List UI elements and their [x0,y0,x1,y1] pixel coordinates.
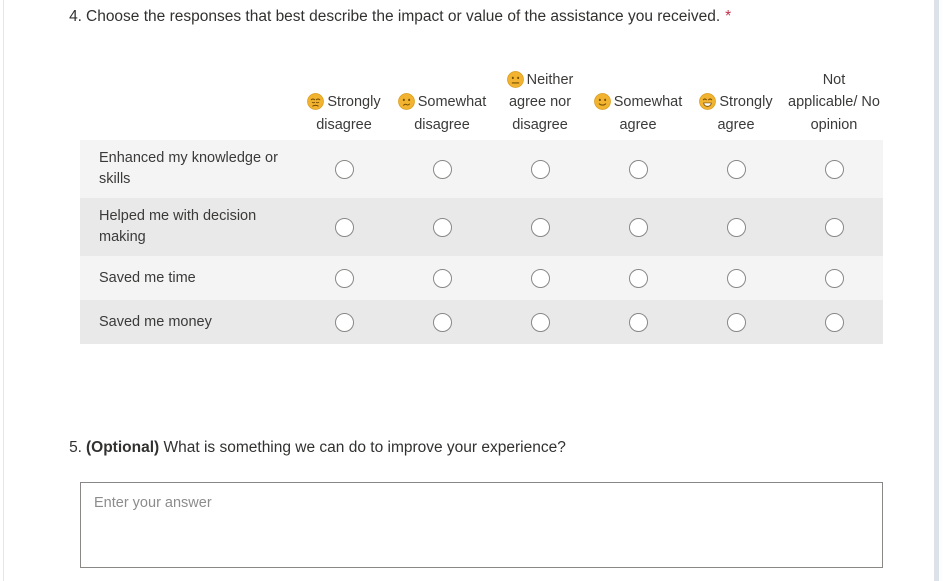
question-4-heading: 4. Choose the responses that best descri… [62,6,892,28]
likert-cell-1-4[interactable] [687,218,785,237]
neutral-face-icon [507,71,524,88]
likert-column-header-3: Somewhat agree [589,58,687,140]
page-scrollbar-thumb[interactable] [934,0,939,581]
likert-cell-0-5[interactable] [785,160,883,179]
likert-cell-3-0[interactable] [295,313,393,332]
likert-row-label-1: Helped me with decision making [80,206,295,248]
likert-column-label-3: Somewhat agree [614,94,683,133]
likert-cell-1-0[interactable] [295,218,393,237]
radio-button[interactable] [825,313,844,332]
likert-column-header-inner-5: Not applicable/ No opinion [787,69,881,137]
likert-matrix: Strongly disagree Somewhat disagree Neit… [80,58,883,344]
likert-cell-0-2[interactable] [491,160,589,179]
likert-cell-1-5[interactable] [785,218,883,237]
likert-cell-2-2[interactable] [491,269,589,288]
radio-button[interactable] [825,160,844,179]
radio-button[interactable] [335,313,354,332]
radio-button[interactable] [629,269,648,288]
answer-textarea[interactable]: Enter your answer [80,482,883,568]
radio-button[interactable] [531,160,550,179]
radio-button[interactable] [629,160,648,179]
radio-button[interactable] [335,218,354,237]
question-4-number: 4. [62,6,86,28]
table-row: Saved me time [80,256,883,300]
radio-button[interactable] [433,160,452,179]
radio-button[interactable] [727,218,746,237]
likert-cell-3-2[interactable] [491,313,589,332]
question-5-text-wrap: (Optional) What is something we can do t… [86,437,892,459]
likert-column-header-1: Somewhat disagree [393,58,491,140]
likert-cell-2-0[interactable] [295,269,393,288]
radio-button[interactable] [825,269,844,288]
likert-column-header-4: Strongly agree [687,58,785,140]
likert-column-header-inner-2: Neither agree nor disagree [493,69,587,137]
slightly-smiling-face-icon [594,93,611,110]
radio-button[interactable] [727,160,746,179]
question-5-heading: 5. (Optional) What is something we can d… [62,437,892,459]
question-4-text: Choose the responses that best describe … [86,8,720,25]
answer-placeholder: Enter your answer [94,493,869,513]
radio-button[interactable] [433,218,452,237]
question-4-text-wrap: Choose the responses that best describe … [86,6,892,28]
likert-cell-3-5[interactable] [785,313,883,332]
likert-cell-3-3[interactable] [589,313,687,332]
likert-cell-0-4[interactable] [687,160,785,179]
weary-sad-face-icon [307,93,324,110]
radio-button[interactable] [629,218,648,237]
likert-cell-1-2[interactable] [491,218,589,237]
page-scrollbar-track[interactable] [934,0,943,581]
likert-cell-0-1[interactable] [393,160,491,179]
radio-button[interactable] [825,218,844,237]
radio-button[interactable] [433,269,452,288]
question-5-block: 5. (Optional) What is something we can d… [62,437,892,459]
likert-column-header-inner-1: Somewhat disagree [395,91,489,136]
radio-button[interactable] [531,218,550,237]
radio-button[interactable] [531,269,550,288]
likert-cell-2-4[interactable] [687,269,785,288]
likert-column-label-1: Somewhat disagree [414,94,486,133]
likert-row-label-0: Enhanced my knowledge or skills [80,148,295,190]
question-5-text: What is something we can do to improve y… [164,439,566,456]
likert-cell-3-4[interactable] [687,313,785,332]
likert-cell-2-1[interactable] [393,269,491,288]
optional-label: (Optional) [86,439,159,456]
likert-column-label-4: Strongly agree [717,94,772,133]
radio-button[interactable] [335,269,354,288]
likert-row-label-3: Saved me money [80,312,295,333]
likert-header-corner [80,58,295,140]
table-row: Saved me money [80,300,883,344]
radio-button[interactable] [433,313,452,332]
likert-column-header-inner-4: Strongly agree [689,91,783,136]
likert-column-header-inner-0: Strongly disagree [297,91,391,136]
likert-column-header-0: Strongly disagree [295,58,393,140]
required-asterisk: * [725,8,731,25]
radio-button[interactable] [727,269,746,288]
likert-header-row: Strongly disagree Somewhat disagree Neit… [80,58,883,140]
question-4-block: 4. Choose the responses that best descri… [62,6,892,28]
likert-column-header-inner-3: Somewhat agree [591,91,685,136]
question-5-number: 5. [62,437,86,459]
table-row: Helped me with decision making [80,198,883,256]
likert-cell-3-1[interactable] [393,313,491,332]
likert-column-header-5: Not applicable/ No opinion [785,58,883,140]
likert-row-label-2: Saved me time [80,268,295,289]
radio-button[interactable] [531,313,550,332]
likert-column-label-0: Strongly disagree [316,94,380,133]
likert-cell-2-3[interactable] [589,269,687,288]
likert-cell-0-0[interactable] [295,160,393,179]
grinning-face-icon [699,93,716,110]
radio-button[interactable] [335,160,354,179]
radio-button[interactable] [629,313,648,332]
form-page: 4. Choose the responses that best descri… [0,0,934,581]
likert-cell-1-1[interactable] [393,218,491,237]
radio-button[interactable] [727,313,746,332]
likert-cell-0-3[interactable] [589,160,687,179]
likert-column-header-2: Neither agree nor disagree [491,58,589,140]
likert-body: Enhanced my knowledge or skills Helped m… [80,140,883,344]
table-row: Enhanced my knowledge or skills [80,140,883,198]
likert-cell-1-3[interactable] [589,218,687,237]
likert-cell-2-5[interactable] [785,269,883,288]
confused-face-icon [398,93,415,110]
